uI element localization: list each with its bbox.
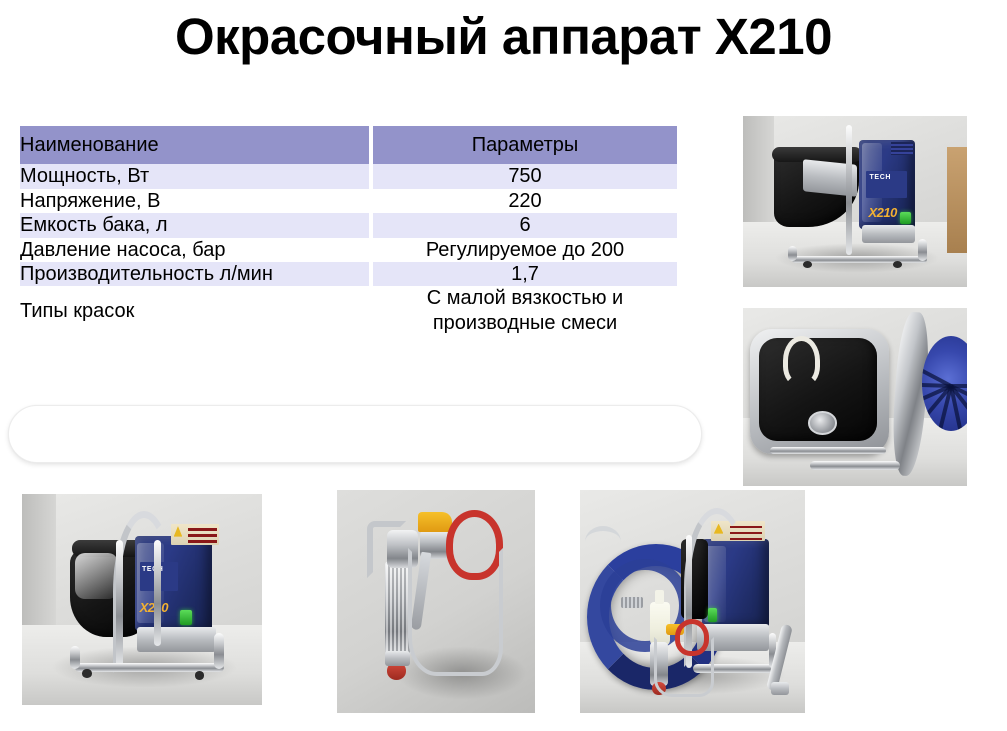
- background-box: [947, 147, 967, 253]
- table-row: Давление насоса, бар Регулируемое до 200: [20, 238, 677, 262]
- table-row: Производительность л/мин 1,7: [20, 262, 677, 286]
- gun-trigger-guard: [654, 637, 714, 697]
- brand-label-tech: TECH: [870, 174, 891, 181]
- suction-hose: [783, 336, 820, 385]
- handle-bar: [846, 125, 852, 255]
- photo-tank-top: [743, 308, 967, 486]
- base-frame-bar-rear: [770, 447, 886, 454]
- row-label-voltage: Напряжение, В: [20, 189, 369, 213]
- foot-left: [82, 669, 92, 677]
- foot-right: [195, 671, 205, 679]
- table-row: Мощность, Вт 750: [20, 164, 677, 188]
- photo-sprayer-side: TECH X210: [743, 116, 967, 287]
- row-label-tank: Емкость бака, л: [20, 213, 369, 237]
- warning-label: [171, 524, 219, 545]
- base-frame-right: [918, 239, 927, 261]
- hose-fitting: [621, 597, 644, 608]
- base-frame-left: [70, 646, 80, 669]
- table-row: Напряжение, В 220: [20, 189, 677, 213]
- model-label-x210: X210: [868, 205, 896, 220]
- row-value-voltage: 220: [373, 189, 677, 213]
- motor-vent: [891, 142, 913, 156]
- base-frame-front: [792, 256, 926, 263]
- wand-tip: [771, 682, 789, 695]
- handle-upright: [116, 540, 123, 667]
- row-value-paint-types: С малой вязкостью и производные смеси: [373, 286, 677, 335]
- power-led: [180, 610, 192, 625]
- hose-tail: [585, 526, 621, 558]
- bottle-neck: [655, 590, 664, 603]
- power-led: [900, 212, 911, 224]
- table-row: Типы красок С малой вязкостью и производ…: [20, 286, 677, 335]
- base-frame-bar: [810, 461, 900, 470]
- base-frame-left: [788, 246, 797, 261]
- photo-scene: [743, 308, 967, 486]
- row-value-output: 1,7: [373, 262, 677, 286]
- row-value-tank: 6: [373, 213, 677, 237]
- gun-tip-yellow: [418, 512, 452, 532]
- column-header-value: Параметры: [373, 126, 677, 164]
- photo-full-kit: [580, 490, 805, 713]
- row-label-pressure: Давление насоса, бар: [20, 238, 369, 262]
- gun-trigger-guard: [408, 548, 503, 676]
- row-value-pressure: Регулируемое до 200: [373, 238, 677, 262]
- row-label-output: Производительность л/мин: [20, 262, 369, 286]
- handle-upright-right: [154, 540, 161, 646]
- specifications-table: Наименование Параметры Мощность, Вт 750 …: [20, 126, 677, 335]
- photo-sprayer-angle: TECH X210: [22, 494, 262, 705]
- photo-scene: [580, 490, 805, 713]
- table-header-row: Наименование Параметры: [20, 126, 677, 164]
- row-label-power: Мощность, Вт: [20, 164, 369, 188]
- gun-hook: [367, 521, 407, 578]
- page-title: Окрасочный аппарат X210: [0, 8, 1007, 67]
- table-row: Емкость бака, л 6: [20, 213, 677, 237]
- column-header-name: Наименование: [20, 126, 369, 164]
- inlet-fitting: [808, 411, 837, 435]
- tank-highlight: [75, 553, 118, 599]
- photo-scene: TECH X210: [22, 494, 262, 705]
- rounded-callout-shape[interactable]: [8, 405, 702, 463]
- row-label-paint-types: Типы красок: [20, 286, 369, 335]
- gun-inlet-nut: [385, 651, 411, 667]
- row-value-power: 750: [373, 164, 677, 188]
- pump-block: [862, 225, 916, 242]
- photo-scene: TECH X210: [743, 116, 967, 287]
- photo-spray-gun: [337, 490, 535, 713]
- photo-scene: [337, 490, 535, 713]
- base-frame-right: [214, 633, 224, 669]
